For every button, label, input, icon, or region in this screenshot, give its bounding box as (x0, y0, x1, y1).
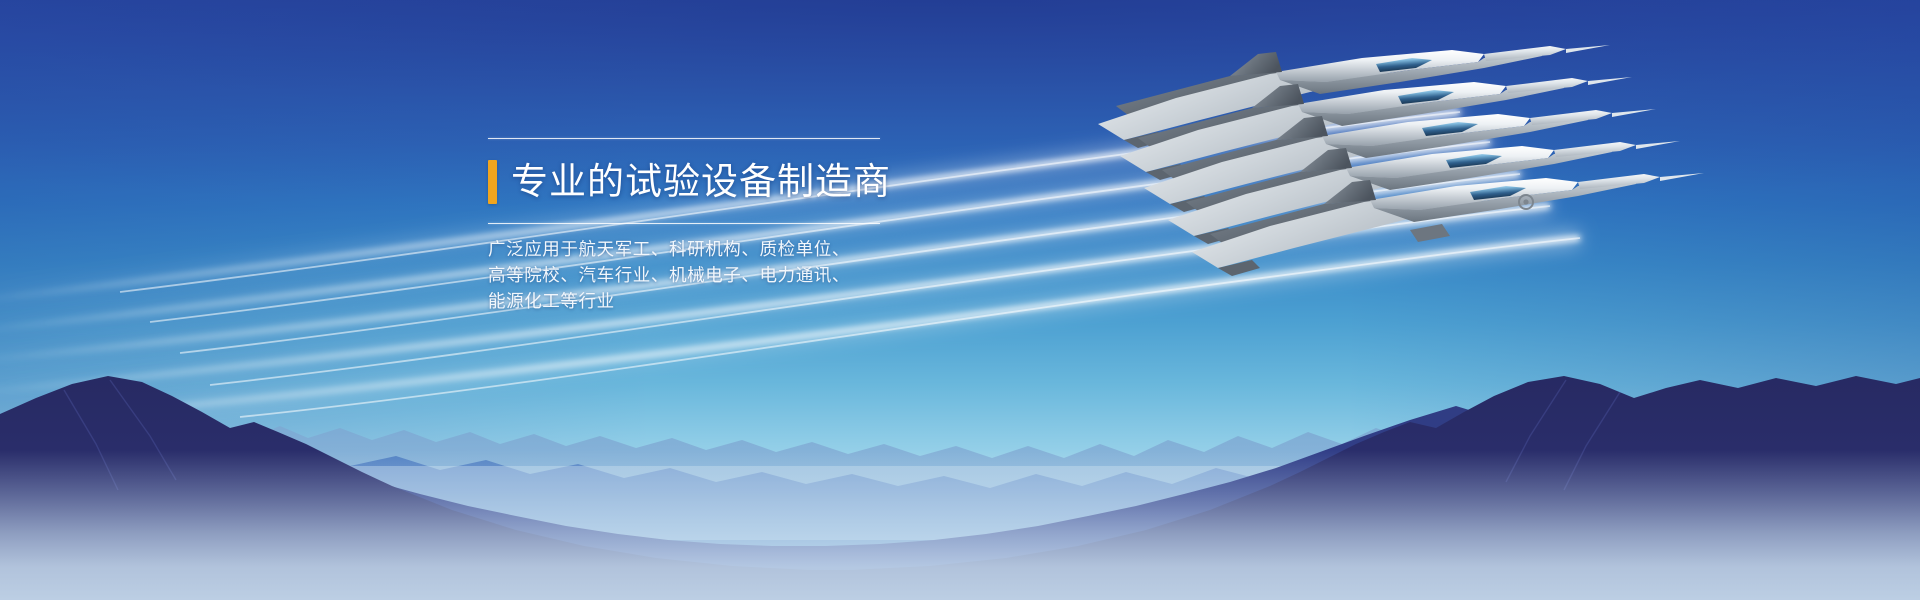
headline-row: 专业的试验设备制造商 (488, 155, 908, 209)
sky-haze-right (1344, 0, 1920, 600)
subtitle-line-2: 高等院校、汽车行业、机械电子、电力通讯、 (488, 263, 908, 289)
sky-haze-top (0, 0, 1920, 276)
jet-4 (1120, 77, 1632, 180)
jet-1-lead (1192, 173, 1704, 276)
subtitle-line-1: 广泛应用于航天军工、科研机构、质检单位、 (488, 237, 908, 263)
accent-bar-icon (488, 160, 497, 204)
ridge-front (0, 376, 1920, 600)
ridge-near (0, 390, 1920, 600)
jet-2 (1168, 141, 1680, 244)
jet-5 (1098, 45, 1610, 148)
divider-line-bottom (488, 223, 880, 224)
divider-line-top (488, 138, 880, 139)
fighter-jet-formation (1080, 28, 1920, 318)
ridge-far (0, 412, 1920, 600)
subtitle-block: 广泛应用于航天军工、科研机构、质检单位、 高等院校、汽车行业、机械电子、电力通讯… (488, 237, 908, 315)
mountain-range (0, 340, 1920, 600)
subtitle-line-3: 能源化工等行业 (488, 289, 908, 315)
valley-mist (0, 450, 1920, 600)
jet-3 (1144, 109, 1656, 212)
ridge-mid (0, 440, 1920, 600)
hero-banner: 专业的试验设备制造商 广泛应用于航天军工、科研机构、质检单位、 高等院校、汽车行… (0, 0, 1920, 600)
page-title: 专业的试验设备制造商 (511, 160, 891, 204)
contrail-streaks (0, 0, 1920, 600)
banner-copy-block: 专业的试验设备制造商 广泛应用于航天军工、科研机构、质检单位、 高等院校、汽车行… (488, 138, 908, 315)
